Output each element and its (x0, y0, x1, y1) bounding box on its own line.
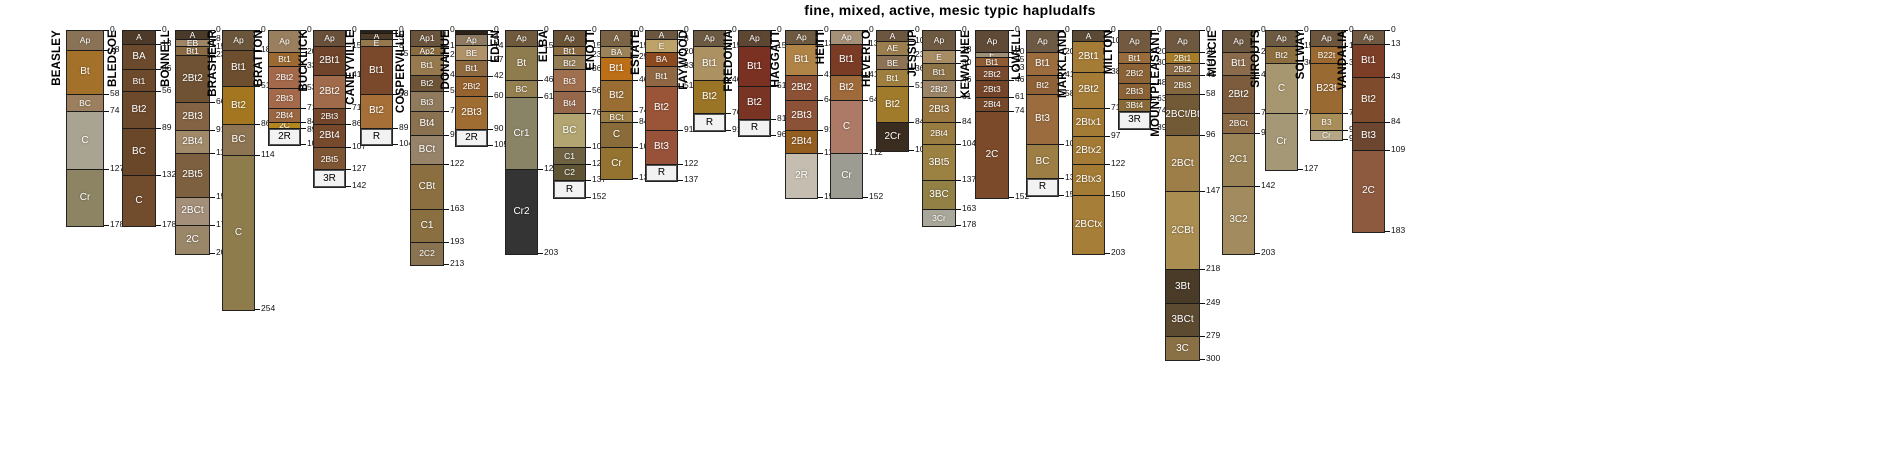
horizon-label: 2BCtx (1075, 220, 1102, 230)
depth-tick (210, 253, 215, 254)
horizon-segment: Bt2 (831, 76, 862, 101)
profile-name-label: BONNELL (161, 30, 173, 87)
horizon-label: Bt2 (131, 105, 146, 115)
horizon-label: A (659, 31, 665, 39)
horizon-label: 2Bt5 (182, 170, 203, 180)
depth-tick (393, 128, 398, 129)
horizon-label: Bt1 (369, 66, 384, 76)
horizon-segment: 3R (314, 170, 345, 186)
horizon-label: Ap (1177, 37, 1187, 46)
depth-tick (1255, 133, 1260, 134)
horizon-label: 3C2 (1229, 215, 1247, 225)
profile-column: AEBBt12Bt22Bt32Bt42Bt52BCt2C (175, 30, 210, 255)
horizon-label: Bt2 (839, 83, 854, 93)
horizon-segment: Ap (1266, 31, 1297, 47)
horizon-segment: R (1027, 179, 1058, 195)
horizon-label: Bt2 (369, 106, 384, 116)
horizon-label: Bt1 (986, 58, 999, 66)
depth-tick (444, 91, 449, 92)
horizon-segment: 2Bt3 (923, 98, 955, 123)
depth-tick (1009, 111, 1014, 112)
profile-column: ApBt1Bt2CCr (830, 30, 863, 199)
horizon-label: BC (79, 99, 91, 108)
horizon-segment: Bt1 (223, 51, 254, 87)
horizon-segment: Ap (694, 31, 725, 47)
depth-value: 97 (1111, 131, 1120, 140)
depth-tick (210, 225, 215, 226)
depth-value: 58 (1206, 89, 1215, 98)
horizon-segment: 2Bt4 (923, 123, 955, 145)
depth-value: 84 (1391, 117, 1400, 126)
depth-tick (444, 164, 449, 165)
depth-value: 163 (450, 204, 464, 213)
horizon-label: A (614, 34, 620, 43)
depth-tick (1385, 77, 1390, 78)
profile-column: Ap2Bt12Bt22Bt32Bt42Bt53R (313, 30, 346, 188)
depth-tick (956, 180, 961, 181)
depth-tick (1009, 197, 1014, 198)
depth-tick (633, 122, 638, 123)
depth-tick (104, 94, 109, 95)
depth-value: 61 (1015, 92, 1024, 101)
horizon-label: Bt1 (747, 62, 762, 72)
depth-tick (444, 264, 449, 265)
horizon-label: Bt1 (421, 61, 434, 70)
depth-tick (678, 164, 683, 165)
horizon-segment: Bt1 (831, 45, 862, 76)
horizon-segment: BA (646, 53, 677, 67)
horizon-label: Cr (611, 159, 622, 169)
horizon-segment: Ap (1166, 31, 1199, 53)
profile-name-label: HEITT (816, 30, 828, 64)
depth-tick (818, 130, 823, 131)
horizon-segment: Bt1 (123, 70, 155, 92)
depth-value: 142 (1261, 181, 1275, 190)
depth-tick (1200, 63, 1205, 64)
depth-tick (346, 169, 351, 170)
horizon-segment: Ap (223, 31, 254, 51)
depth-value: 58 (110, 89, 119, 98)
horizon-label: Bt1 (839, 55, 854, 65)
horizon-segment: Bt (67, 51, 103, 95)
horizon-label: BC (232, 135, 246, 145)
horizon-segment: Bt2 (554, 56, 585, 70)
horizon-label: A (190, 31, 196, 39)
depth-tick (586, 147, 591, 148)
horizon-segment: Bt1 (786, 45, 817, 76)
horizon-segment: C (831, 101, 862, 154)
horizon-segment: Bt2 (1027, 76, 1058, 95)
profile-column: ApBt12Bt22Bt33Bt43R (1118, 30, 1151, 130)
horizon-label: Ap (934, 36, 944, 45)
horizon-label: Bt1 (1035, 59, 1050, 69)
horizon-label: Bt2 (654, 103, 669, 113)
depth-tick (1298, 113, 1303, 114)
horizon-segment: 3C2 (1223, 187, 1254, 254)
horizon-label: 2Bt2 (1174, 65, 1192, 74)
profile-column: AEBt1Bt2R (360, 30, 393, 146)
horizon-label: 2Bt4 (182, 137, 203, 147)
horizon-label: CBt (419, 182, 436, 192)
profile-name-label: ENOTT (586, 30, 598, 70)
depth-tick (1200, 303, 1205, 304)
depth-tick (678, 130, 683, 131)
depth-value: 114 (261, 150, 275, 159)
horizon-label: C2 (564, 168, 575, 177)
horizon-label: BA (611, 48, 622, 57)
horizon-segment: E (646, 40, 677, 53)
depth-tick (156, 91, 161, 92)
horizon-label: 3R (1128, 115, 1141, 125)
horizon-segment: EB (176, 40, 209, 48)
horizon-segment: Bt1 (176, 47, 209, 56)
horizon-label: 3Bt5 (929, 158, 950, 168)
depth-value: 183 (1391, 226, 1405, 235)
horizon-label: B3 (1321, 118, 1331, 127)
horizon-segment: 2Bt2 (456, 77, 487, 97)
depth-value: 60 (494, 91, 503, 100)
horizon-segment: 3Cr (923, 210, 955, 226)
horizon-label: Ap2 (419, 47, 434, 55)
horizon-segment: A (601, 31, 632, 47)
horizon-label: Bt2 (702, 92, 717, 102)
horizon-label: BE (466, 49, 477, 58)
horizon-segment: BA (601, 47, 632, 58)
horizon-label: BA (132, 52, 145, 62)
horizon-label: 2Btx2 (1076, 146, 1102, 156)
horizon-segment: Bt2 (694, 81, 725, 114)
horizon-label: Bt1 (278, 55, 291, 64)
horizon-segment: Ap (506, 31, 537, 47)
horizon-label: E (936, 53, 942, 62)
horizon-segment: Bt3 (1353, 123, 1384, 150)
horizon-segment: 2Bt3 (269, 89, 300, 109)
horizon-segment: Bt3 (554, 70, 585, 92)
depth-tick (1255, 113, 1260, 114)
horizon-segment: 2BCt/Bt (1166, 95, 1199, 137)
profile-name-label: SHROUTS (1251, 30, 1263, 88)
horizon-label: 2R (795, 171, 808, 181)
depth-tick (301, 144, 306, 145)
profile-name-label: ESTATE (631, 30, 643, 75)
depth-tick (104, 225, 109, 226)
depth-value: 122 (1111, 159, 1125, 168)
profile-column: ApBt1Bt2BCC (222, 30, 255, 311)
depth-tick (301, 108, 306, 109)
profile-name-label: MOUNTPLEASANT (1151, 30, 1163, 137)
horizon-segment: Ap1 (411, 31, 443, 47)
profile-column: ApBt12Bt22Bt32Bt42C2R (268, 30, 301, 146)
horizon-segment: Bt (506, 47, 537, 81)
horizon-segment: 2Bt2 (786, 76, 817, 101)
horizon-segment: AE (877, 42, 908, 56)
horizon-segment: Bt3 (411, 92, 443, 112)
profile-column: ApBt1Bt2R (693, 30, 726, 132)
horizon-label: Bt1 (133, 77, 146, 86)
depth-value: 152 (869, 192, 883, 201)
depth-tick (1385, 44, 1390, 45)
depth-value: 218 (1206, 264, 1220, 273)
profile-name-label: MARKLAND (1058, 30, 1070, 98)
depth-tick (538, 253, 543, 254)
horizon-segment: Bt4 (411, 112, 443, 136)
depth-tick (444, 242, 449, 243)
horizon-label: R (706, 118, 713, 128)
horizon-label: Ap (796, 33, 806, 42)
depth-tick (956, 225, 961, 226)
horizon-segment: BE (877, 56, 908, 70)
horizon-label: 2Bt4 (319, 131, 340, 141)
depth-tick (1105, 253, 1110, 254)
horizon-label: B22t (1318, 51, 1336, 60)
horizon-label: BE (887, 59, 898, 68)
horizon-segment: E (361, 40, 392, 48)
horizon-segment: R (694, 114, 725, 130)
horizon-label: 3Cr (932, 214, 946, 223)
horizon-segment: Ap (739, 31, 770, 47)
horizon-label: 3Bt (1175, 282, 1190, 292)
profile-column: ApBt12Bt22Bt32Bt42R (785, 30, 818, 199)
horizon-label: Cr (80, 193, 91, 203)
horizon-label: R (658, 168, 665, 178)
horizon-label: 3C (1176, 344, 1189, 354)
profile-column: ApBtBCCCr (66, 30, 104, 227)
depth-tick (1200, 30, 1205, 31)
profile-column: ApEBt12Bt22Bt32Bt42C (975, 30, 1009, 199)
depth-tick (210, 130, 215, 131)
horizon-segment: 2Bt5 (314, 148, 345, 170)
horizon-label: Bt1 (933, 68, 946, 77)
horizon-segment: BE (456, 46, 487, 60)
horizon-segment: 2Bt1 (1166, 53, 1199, 64)
horizon-label: Cr (1276, 137, 1287, 147)
profile-name-label: JESSUP (908, 30, 920, 77)
profile-name-label: BUCKLICK (299, 30, 311, 92)
horizon-label: 2BCt (1229, 119, 1248, 128)
horizon-label: C (235, 228, 242, 238)
horizon-label: Bt3 (1035, 114, 1050, 124)
profile-column: ApEBt12Bt22Bt32Bt43Bt53BC3Cr (922, 30, 956, 227)
horizon-segment: Ap (786, 31, 817, 45)
depth-tick (1343, 113, 1348, 114)
depth-tick (1059, 144, 1064, 145)
horizon-segment: 3Bt4 (1119, 100, 1150, 112)
horizon-label: Bt1 (465, 64, 478, 73)
horizon-label: BC (1036, 157, 1050, 167)
depth-tick (956, 122, 961, 123)
depth-value: 122 (684, 159, 698, 168)
horizon-segment: 2C1 (1223, 134, 1254, 187)
depth-tick (1200, 191, 1205, 192)
depth-tick (1009, 97, 1014, 98)
horizon-segment: 2R (786, 154, 817, 198)
horizon-label: Bt1 (794, 55, 809, 65)
depth-value: 147 (1206, 186, 1220, 195)
horizon-label: 2Bt3 (276, 94, 294, 103)
horizon-segment: Bt2 (223, 87, 254, 125)
horizon-label: Bt1 (609, 64, 624, 74)
depth-tick (1385, 30, 1390, 31)
depth-tick (818, 75, 823, 76)
horizon-segment: 2BCt (1223, 114, 1254, 134)
depth-tick (255, 309, 260, 310)
depth-value: 178 (962, 220, 976, 229)
horizon-segment: C2 (554, 165, 585, 181)
horizon-segment: 2Bt4 (976, 98, 1008, 112)
horizon-label: Ap (1321, 34, 1331, 43)
horizon-label: 2BCt (1171, 159, 1193, 169)
depth-tick (863, 153, 868, 154)
horizon-label: 2Bt2 (276, 73, 294, 82)
profile-column: ApBt1Bt2Bt3BCR (1026, 30, 1059, 197)
depth-tick (1105, 195, 1110, 196)
depth-tick (1343, 139, 1348, 140)
horizon-label: C (81, 136, 88, 146)
depth-tick (301, 122, 306, 123)
depth-tick (909, 150, 914, 151)
horizon-segment: 2BCt (176, 198, 209, 227)
depth-tick (346, 124, 351, 125)
horizon-segment: 2Bt3 (976, 81, 1008, 97)
depth-tick (488, 96, 493, 97)
horizon-label: 2Bt4 (930, 129, 948, 138)
profile-name-label: CANEYVILLE (346, 30, 358, 105)
profile-column: Ap2Bt12Bt22Bt32BCt/Bt2BCt2CBt3Bt3BCt3C (1165, 30, 1200, 361)
depth-tick (1343, 130, 1348, 131)
horizon-segment: Cr2 (506, 170, 537, 253)
horizon-segment: Cr (831, 154, 862, 198)
horizon-segment: R (739, 120, 770, 136)
horizon-label: 2Bt2 (1228, 90, 1249, 100)
depth-tick (104, 169, 109, 170)
depth-value: 142 (352, 181, 366, 190)
horizon-segment: 2BCtx (1073, 196, 1104, 254)
depth-tick (633, 111, 638, 112)
horizon-label: Bt4 (419, 119, 434, 129)
depth-tick (210, 153, 215, 154)
horizon-label: C1 (564, 152, 575, 161)
horizon-segment: 2C2 (411, 243, 443, 265)
horizon-label: Cr (841, 171, 852, 181)
depth-tick (1200, 269, 1205, 270)
depth-tick (444, 135, 449, 136)
horizon-label: E (374, 40, 380, 48)
profile-name-label: ELBA (539, 30, 551, 62)
horizon-label: 2CBt (1171, 226, 1193, 236)
depth-tick (633, 178, 638, 179)
horizon-label: Bt1 (1361, 56, 1376, 66)
depth-tick (863, 197, 868, 198)
horizon-label: Ap (324, 34, 334, 43)
horizon-segment: 3C (1166, 337, 1199, 360)
depth-value: 150 (1111, 190, 1125, 199)
horizon-label: Bt1 (231, 63, 246, 73)
depth-tick (633, 80, 638, 81)
depth-value: 213 (450, 259, 464, 268)
horizon-segment: Cr (1266, 114, 1297, 170)
horizon-label: R (373, 132, 380, 142)
horizon-label: Cr1 (513, 129, 529, 139)
profile-name-label: BEASLEY (52, 30, 64, 86)
horizon-segment: Ap2 (411, 47, 443, 56)
horizon-segment: 2Bt1 (1073, 42, 1104, 73)
horizon-segment: 2Bt2 (176, 56, 209, 103)
horizon-segment: BC (123, 129, 155, 176)
horizon-label: C1 (421, 221, 434, 231)
horizon-segment: Bt2 (646, 87, 677, 131)
depth-value: 0 (1391, 25, 1396, 34)
depth-value: 74 (110, 106, 119, 115)
depth-tick (538, 80, 543, 81)
horizon-segment: 2Bt3 (1166, 76, 1199, 95)
depth-value: 249 (1206, 298, 1220, 307)
horizon-segment: Bt2 (877, 87, 908, 123)
depth-tick (1200, 336, 1205, 337)
horizon-label: Bt (517, 59, 526, 69)
horizon-segment: 3BC (923, 181, 955, 210)
profile-name-label: BRATTON (254, 30, 266, 87)
horizon-segment: 2C (176, 226, 209, 253)
depth-value: 90 (494, 124, 503, 133)
horizon-label: Ap (987, 37, 997, 46)
depth-tick (1200, 52, 1205, 53)
horizon-segment: E (923, 51, 955, 64)
horizon-segment: C1 (411, 210, 443, 243)
depth-tick (1200, 135, 1205, 136)
depth-tick (771, 119, 776, 120)
horizon-segment: 2Bt4 (786, 131, 817, 154)
horizon-label: Ap (749, 34, 759, 43)
horizon-segment: C (601, 123, 632, 148)
horizon-label: Bt3 (1361, 131, 1376, 141)
horizon-segment: BC (506, 81, 537, 97)
depth-tick (956, 144, 961, 145)
horizon-label: 2Bt3 (1126, 87, 1144, 96)
depth-tick (488, 129, 493, 130)
depth-tick (301, 128, 306, 129)
horizon-label: 3R (323, 174, 336, 184)
horizon-label: Ap (279, 37, 289, 46)
horizon-segment: BC (223, 125, 254, 156)
horizon-segment: 2Bt4 (176, 131, 209, 154)
horizon-segment: Bt1 (456, 61, 487, 77)
profile-column: AAEBEBt1Bt22Cr (876, 30, 909, 152)
profile-name-label: SOLWAY (1296, 30, 1308, 79)
horizon-segment: 2Btx3 (1073, 165, 1104, 196)
horizon-segment: CBt (411, 165, 443, 210)
horizon-label: Ap (704, 34, 714, 43)
depth-tick (444, 111, 449, 112)
horizon-label: 2BCt/Bt (1166, 110, 1199, 120)
horizon-segment: A (646, 31, 677, 40)
horizon-segment: Bt2 (1353, 78, 1384, 123)
horizon-segment: Bt1 (361, 47, 392, 94)
horizon-segment: Bt1 (1027, 53, 1058, 76)
horizon-label: EB (187, 40, 198, 48)
horizon-label: B23t (1316, 84, 1337, 94)
horizon-label: Bt3 (421, 98, 434, 107)
depth-tick (255, 155, 260, 156)
horizon-segment: 3R (1119, 112, 1150, 128)
horizon-label: Ap (564, 34, 574, 43)
profile-name-label: KEWAUNEE (961, 30, 973, 98)
horizon-label: 2Bt3 (321, 112, 339, 121)
horizon-label: 2Cr (884, 132, 900, 142)
horizon-label: Bt2 (231, 101, 246, 111)
horizon-segment: Ap (456, 35, 487, 46)
horizon-label: Bt (80, 67, 89, 77)
depth-tick (1059, 195, 1064, 196)
